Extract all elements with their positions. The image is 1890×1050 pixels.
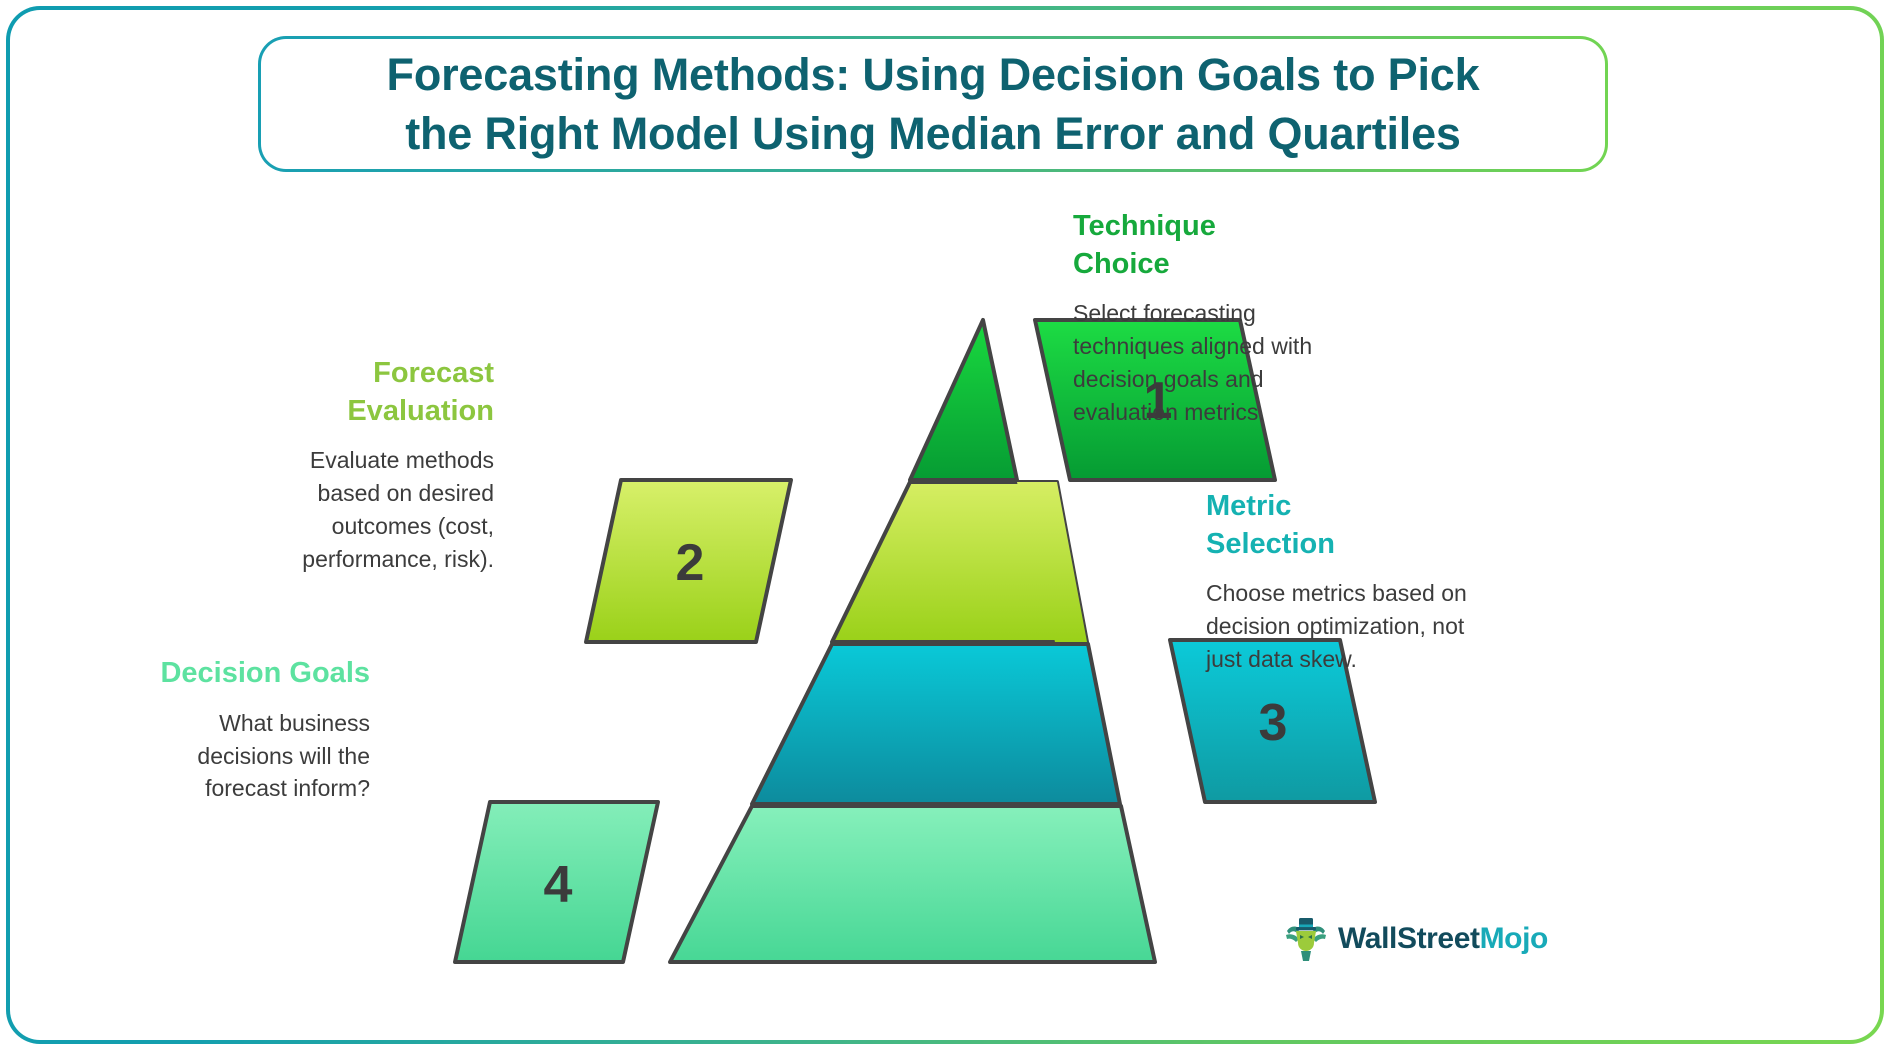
pyramid-tier-3-left	[752, 644, 1120, 804]
callout-2-title: Forecast Evaluation	[272, 355, 494, 430]
step-number-2: 2	[676, 534, 705, 592]
callout-2-title-line-2: Evaluation	[347, 395, 494, 427]
brand-wordmark: WallStreetMojo	[1338, 922, 1548, 956]
brand-logo: WallStreetMojo	[1283, 915, 1548, 963]
step-marker-4[interactable]: 4	[455, 802, 658, 962]
bull-mascot-icon	[1283, 915, 1329, 963]
page-canvas: Forecasting Methods: Using Decision Goal…	[10, 10, 1880, 1040]
callout-decision-goals: Decision Goals What business decisions w…	[142, 655, 370, 805]
callout-1-title-line-1: Technique	[1073, 210, 1216, 242]
step-number-4: 4	[544, 856, 573, 914]
pyramid-diagram: 1 2 3 4	[10, 10, 1880, 1040]
callout-4-body: What business decisions will the forecas…	[142, 707, 370, 806]
callout-1-title-line-2: Choice	[1073, 248, 1170, 280]
callout-forecast-evaluation: Forecast Evaluation Evaluate methods bas…	[272, 355, 494, 576]
callout-technique-choice: Technique Choice Select forecasting tech…	[1073, 208, 1325, 429]
callout-2-body: Evaluate methods based on desired outcom…	[272, 444, 494, 576]
page-frame: Forecasting Methods: Using Decision Goal…	[6, 6, 1884, 1044]
step-number-3: 3	[1259, 694, 1288, 752]
callout-3-body: Choose metrics based on decision optimiz…	[1206, 577, 1468, 676]
callout-1-title: Technique Choice	[1073, 208, 1325, 283]
brand-name-part-1: WallStreet	[1338, 922, 1480, 955]
callout-3-title: Metric Selection	[1206, 488, 1468, 563]
callout-4-title: Decision Goals	[142, 655, 370, 693]
step-marker-2[interactable]: 2	[586, 480, 791, 642]
callout-1-body: Select forecasting techniques aligned wi…	[1073, 297, 1325, 429]
callout-2-title-line-1: Forecast	[373, 357, 494, 389]
callout-3-title-line-2: Selection	[1206, 528, 1335, 560]
brand-name-part-2: Mojo	[1480, 922, 1548, 955]
callout-metric-selection: Metric Selection Choose metrics based on…	[1206, 488, 1468, 676]
pyramid-tier-1-left	[910, 320, 1017, 480]
pyramid-tier-4-left	[670, 806, 1155, 962]
callout-3-title-line-1: Metric	[1206, 490, 1291, 522]
